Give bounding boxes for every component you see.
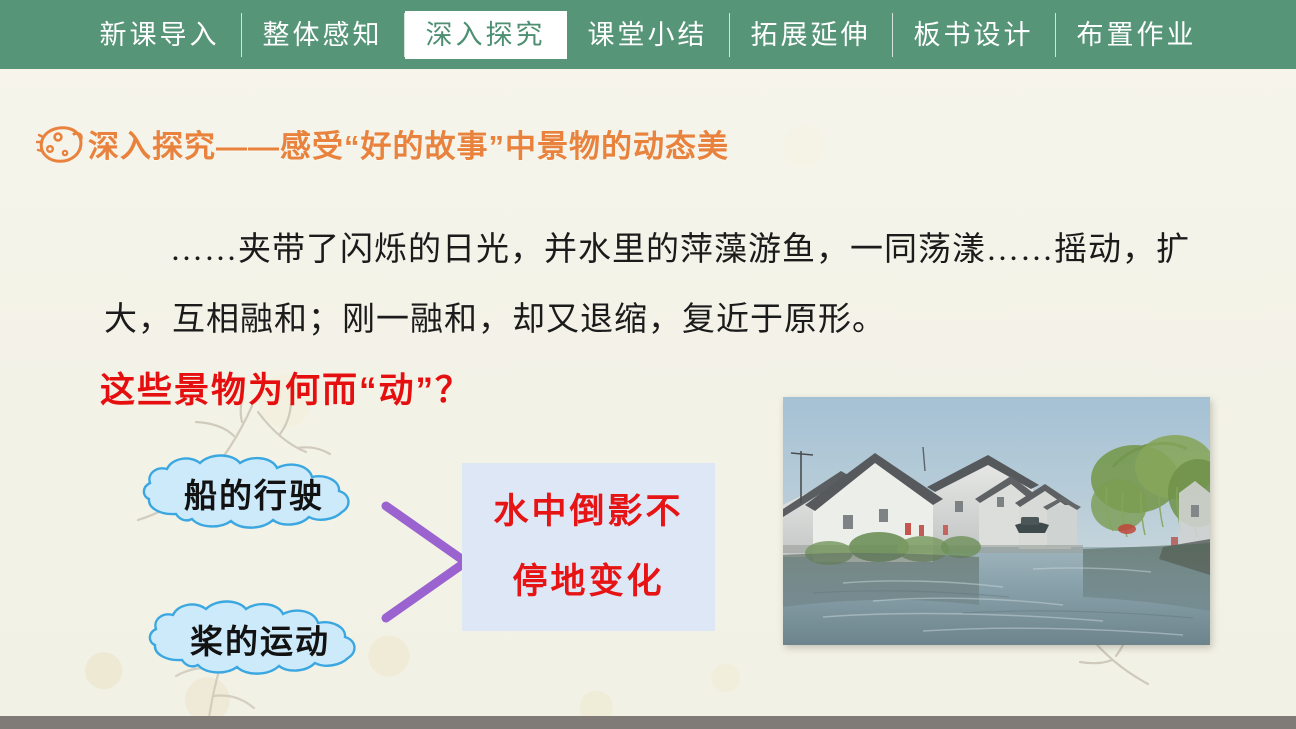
purple-bracket-connector-icon [378, 492, 474, 628]
water-town-canal-photo [783, 397, 1210, 645]
conclusion-line-1: 水中倒影不 [493, 477, 683, 547]
top-navigation-bar: 新课导入 整体感知 深入探究 课堂小结 拓展延伸 板书设计 布置作业 [0, 0, 1296, 69]
water-town-canal-illustration [783, 397, 1210, 645]
cloud-callout-oar[interactable]: 桨的运动 [140, 598, 380, 680]
nav-tab-7[interactable]: 布置作业 [1056, 11, 1218, 59]
section-heading-text: 深入探究——感受“好的故事”中景物的动态美 [88, 121, 729, 166]
section-heading: 深入探究——感受“好的故事”中景物的动态美 [34, 118, 729, 168]
nav-tab-6[interactable]: 板书设计 [893, 11, 1055, 59]
quote-paragraph: ……夹带了闪烁的日光，并水里的萍藻游鱼，一同荡漾……摇动，扩大，互相融和；刚一融… [104, 215, 1194, 355]
cloud-callout-boat[interactable]: 船的行驶 [134, 452, 374, 534]
slide-root: 新课导入 整体感知 深入探究 课堂小结 拓展延伸 板书设计 布置作业 [0, 0, 1296, 729]
conclusion-box: 水中倒影不 停地变化 [462, 463, 715, 631]
nav-tab-5[interactable]: 拓展延伸 [730, 11, 892, 59]
conclusion-line-2: 停地变化 [512, 547, 664, 617]
nav-tab-1[interactable]: 新课导入 [79, 11, 241, 59]
nav-tab-2[interactable]: 整体感知 [242, 11, 404, 59]
bottom-strip [0, 716, 1296, 729]
cloud-callout-boat-label: 船的行驶 [134, 452, 374, 534]
palette-icon [34, 122, 86, 168]
nav-tab-3-active[interactable]: 深入探究 [405, 11, 567, 59]
nav-tab-4[interactable]: 课堂小结 [567, 11, 729, 59]
cloud-callout-oar-label: 桨的运动 [140, 598, 380, 680]
question-text: 这些景物为何而“动”？ [100, 362, 472, 413]
